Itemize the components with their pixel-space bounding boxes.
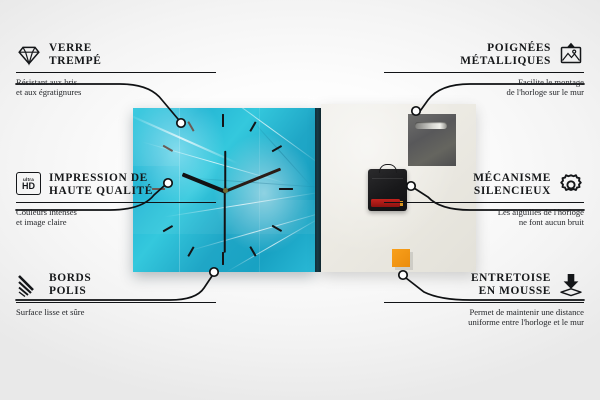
feature-entretoise-en-mousse: ENTRETOISEEN MOUSSE Permet de maintenir … bbox=[384, 272, 584, 328]
feature-description: Permet de maintenir une distanceuniforme… bbox=[384, 307, 584, 328]
feature-divider bbox=[16, 72, 216, 74]
feature-header: MÉCANISMESILENCIEUX bbox=[384, 172, 584, 199]
feature-mecanisme-silencieux: MÉCANISMESILENCIEUX Les aiguilles de l'h… bbox=[384, 172, 584, 228]
feature-divider bbox=[384, 302, 584, 304]
ultra-hd-badge-icon: ultra HD bbox=[16, 172, 42, 198]
hanging-picture-frame-icon bbox=[558, 42, 584, 68]
feature-header: BORDSPOLIS bbox=[16, 272, 216, 299]
feature-title: BORDSPOLIS bbox=[49, 272, 91, 299]
hour-marker bbox=[279, 188, 293, 190]
metal-hanger-plate bbox=[408, 114, 456, 166]
feature-divider bbox=[384, 202, 584, 204]
feature-description: Couleurs intenseset image claire bbox=[16, 207, 216, 228]
feature-divider bbox=[16, 302, 216, 304]
second-hand bbox=[224, 191, 226, 253]
feature-poignees-metalliques: POIGNÉESMÉTALLIQUES Facilite le montaged… bbox=[384, 42, 584, 98]
feature-description: Facilite le montagede l'horloge sur le m… bbox=[384, 77, 584, 98]
feature-impression-haute-qualite: ultra HD IMPRESSION DEHAUTE QUALITÉ Coul… bbox=[16, 172, 216, 228]
feature-description: Les aiguilles de l'horlogene font aucun … bbox=[384, 207, 584, 228]
feature-description: Résistant aux briset aux égratignures bbox=[16, 77, 216, 98]
hour-marker bbox=[222, 252, 224, 265]
feature-title: IMPRESSION DEHAUTE QUALITÉ bbox=[49, 172, 153, 199]
artwork-quad bbox=[133, 108, 179, 166]
center-pin bbox=[223, 188, 228, 193]
feature-divider bbox=[384, 72, 584, 74]
diagonal-lines-icon bbox=[16, 272, 42, 298]
diamond-icon bbox=[16, 42, 42, 68]
feature-header: ENTRETOISEEN MOUSSE bbox=[384, 272, 584, 299]
feature-header: POIGNÉESMÉTALLIQUES bbox=[384, 42, 584, 69]
arrow-down-onto-layer-icon bbox=[558, 272, 584, 298]
feature-title: POIGNÉESMÉTALLIQUES bbox=[460, 42, 551, 69]
feature-title: VERRETREMPÉ bbox=[49, 42, 101, 69]
gear-icon bbox=[558, 172, 584, 198]
feature-title: ENTRETOISEEN MOUSSE bbox=[471, 272, 551, 299]
feature-description: Surface lisse et sûre bbox=[16, 307, 216, 317]
infographic-canvas: VERRETREMPÉ Résistant aux briset aux égr… bbox=[0, 0, 600, 400]
badge-bottom-text: HD bbox=[22, 182, 35, 191]
feature-bords-polis: BORDSPOLIS Surface lisse et sûre bbox=[16, 272, 216, 317]
hour-marker bbox=[222, 114, 224, 127]
feature-header: VERRETREMPÉ bbox=[16, 42, 216, 69]
feature-title: MÉCANISMESILENCIEUX bbox=[473, 172, 551, 199]
feature-divider bbox=[16, 202, 216, 204]
feature-verre-trempe: VERRETREMPÉ Résistant aux briset aux égr… bbox=[16, 42, 216, 98]
feature-header: ultra HD IMPRESSION DEHAUTE QUALITÉ bbox=[16, 172, 216, 199]
foam-spacer bbox=[392, 249, 410, 267]
second-hand-tail bbox=[224, 151, 226, 191]
keyhole-slot bbox=[415, 122, 447, 129]
glass-seam bbox=[259, 108, 260, 272]
